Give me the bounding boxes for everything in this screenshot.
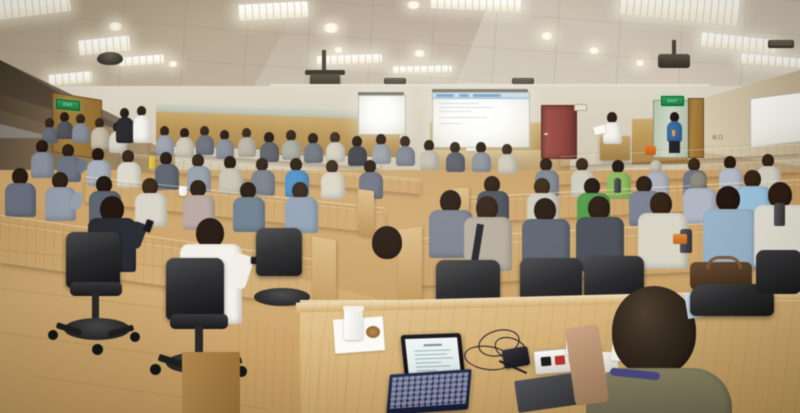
office-chair-caster — [150, 364, 161, 375]
downlight-8 — [168, 61, 178, 67]
orange-object — [673, 234, 687, 244]
ceiling-speaker-icon — [97, 52, 123, 65]
torso — [5, 183, 36, 217]
bag-handle — [706, 256, 742, 269]
document-line — [415, 357, 453, 359]
office-chair-back[interactable] — [66, 232, 120, 288]
paper-cup — [179, 186, 187, 196]
front-red-door-handle[interactable] — [544, 133, 548, 135]
door-sign-plaque — [574, 104, 587, 111]
torso — [238, 137, 256, 157]
office-chair-back[interactable] — [756, 250, 800, 294]
torso — [133, 115, 151, 143]
slide-browser-bar — [433, 93, 529, 99]
document-line — [415, 354, 447, 356]
torso — [31, 152, 54, 178]
torso — [233, 197, 265, 232]
document-line — [415, 362, 441, 364]
downlight-1 — [108, 22, 123, 31]
office-chair-caster — [48, 330, 58, 340]
exit-sign-right-label: EXIT — [668, 99, 678, 103]
slide-text-line — [439, 123, 461, 124]
coffee-cup-lid — [343, 306, 364, 311]
foreground-head — [612, 286, 696, 376]
torso — [472, 152, 491, 172]
pastry — [366, 326, 380, 338]
downlight-2 — [322, 23, 340, 33]
side-projection-screen — [358, 95, 406, 135]
whiteboard — [750, 92, 800, 148]
office-chair-back[interactable] — [166, 258, 224, 320]
downlight-5 — [540, 32, 554, 40]
torso — [372, 144, 391, 164]
downlight-6 — [588, 47, 600, 54]
exit-sign-left-label: EXIT — [63, 102, 73, 107]
lecture-hall-photo: EXIT EXIT 出口 — [0, 0, 800, 413]
torso — [176, 137, 194, 157]
torso — [446, 152, 465, 172]
office-chair-caster — [130, 332, 140, 342]
exit-sign-right: EXIT — [661, 96, 684, 106]
document-heading — [424, 344, 442, 347]
projector-mount — [322, 50, 326, 72]
torso — [498, 154, 517, 174]
torso — [91, 127, 109, 149]
slide-text-line — [439, 103, 479, 104]
office-chair-caster — [92, 344, 103, 355]
torso — [282, 140, 301, 160]
drink-bottle — [774, 203, 785, 226]
leg — [669, 141, 680, 153]
office-chair-back[interactable] — [256, 228, 302, 276]
torso — [72, 123, 90, 143]
wall-plaque-text: 出口 — [712, 135, 724, 141]
torso — [57, 121, 73, 139]
slide-text-line — [439, 117, 487, 118]
document-line — [416, 365, 450, 367]
main-projection-screen — [432, 92, 530, 148]
ceiling-projector-2 — [658, 54, 690, 68]
torso — [326, 142, 345, 162]
downlight-4 — [413, 50, 426, 57]
desk-end-panel-2 — [358, 189, 374, 237]
drink-bottle — [149, 156, 155, 169]
power-socket — [555, 355, 566, 365]
lanyard-badge — [672, 130, 675, 136]
paper-coffee-cup — [344, 308, 363, 340]
head — [372, 226, 402, 259]
downlight-3 — [406, 1, 421, 9]
ceiling-vent-3 — [768, 40, 794, 48]
downlight-9 — [635, 60, 645, 66]
foreground-desk-side — [182, 352, 240, 413]
torso — [304, 143, 323, 163]
orange-bag — [645, 146, 656, 155]
slide-text-line — [439, 111, 471, 112]
front-red-door[interactable] — [541, 105, 577, 159]
torso — [396, 146, 415, 166]
slide-text-line — [439, 107, 493, 108]
document-line — [414, 349, 450, 351]
torso — [420, 150, 439, 170]
laptop-keyboard[interactable] — [386, 369, 471, 413]
torso — [321, 172, 345, 199]
power-socket — [541, 357, 552, 367]
downlight-7 — [333, 47, 344, 53]
drink-bottle — [614, 178, 621, 193]
troffer-light-6 — [392, 65, 452, 73]
torso — [196, 135, 214, 155]
wall-plaque-right: 出口 — [712, 126, 734, 135]
